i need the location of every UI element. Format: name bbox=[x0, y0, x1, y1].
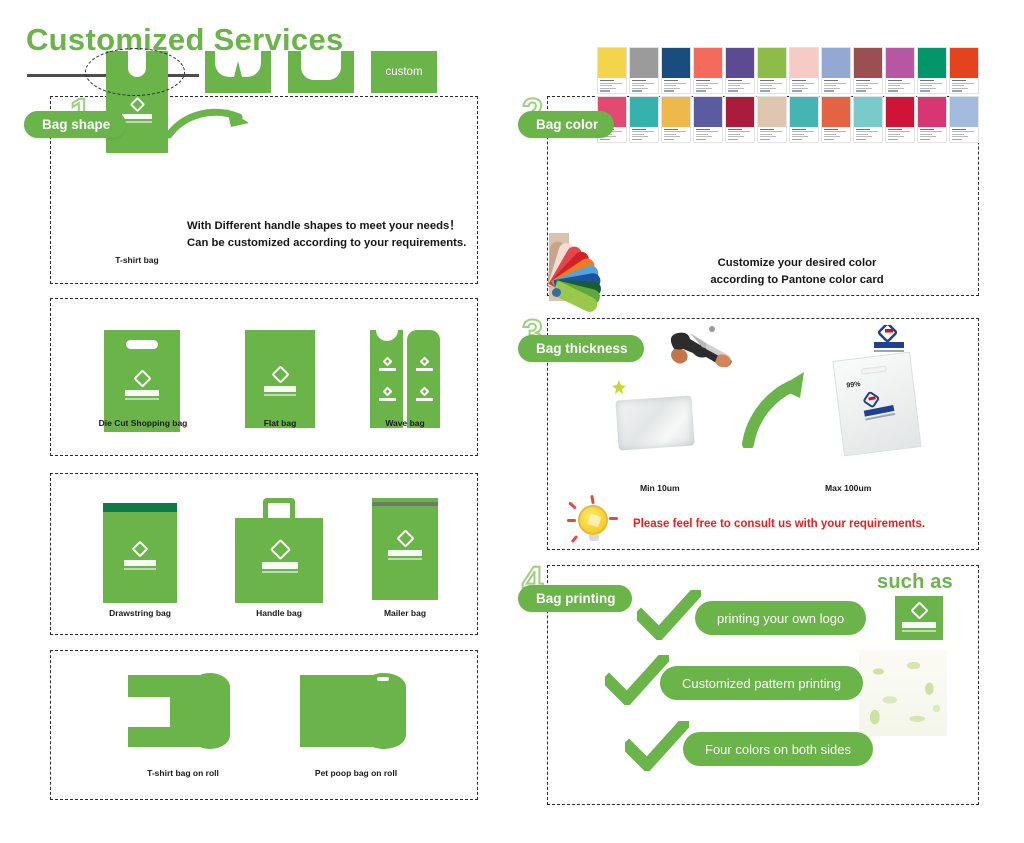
caption-line-2: according to Pantone color card bbox=[647, 272, 947, 289]
pantone-swatch bbox=[949, 47, 979, 94]
pantone-swatch-meta bbox=[822, 127, 850, 142]
pantone-swatch bbox=[629, 47, 659, 94]
pantone-swatch bbox=[661, 47, 691, 94]
bag-handle bbox=[235, 498, 323, 603]
printing-option-1[interactable]: printing your own logo bbox=[695, 601, 866, 635]
pantone-swatch-meta bbox=[854, 127, 882, 142]
bag-flat bbox=[245, 330, 315, 428]
such-as-label: such as bbox=[877, 571, 953, 594]
pantone-swatch-chip bbox=[822, 48, 850, 78]
pantone-swatch-meta bbox=[854, 78, 882, 93]
handle-bag-body bbox=[235, 518, 323, 603]
pantone-swatch-chip bbox=[854, 48, 882, 78]
brand-logo bbox=[415, 358, 433, 371]
pantone-swatch-chip bbox=[950, 48, 978, 78]
printing-option-label: Customized pattern printing bbox=[682, 676, 841, 691]
brand-logo bbox=[415, 388, 433, 401]
pantone-swatch-chip bbox=[662, 97, 690, 127]
pantone-swatch-chip bbox=[790, 48, 818, 78]
pantone-swatch-meta bbox=[886, 127, 914, 142]
pantone-swatch-meta bbox=[790, 127, 818, 142]
pantone-swatch-chip bbox=[758, 97, 786, 127]
pantone-swatch bbox=[757, 96, 787, 143]
pantone-swatch-meta bbox=[758, 127, 786, 142]
pantone-swatch bbox=[725, 96, 755, 143]
bag-label-die-cut: Die Cut Shopping bag bbox=[88, 418, 198, 428]
desc-line-1: With Different handle shapes to meet you… bbox=[187, 218, 466, 235]
thickness-min-label: Min 10um bbox=[640, 483, 680, 493]
handle-shape-custom[interactable]: custom bbox=[371, 51, 437, 93]
printing-option-label: printing your own logo bbox=[717, 611, 844, 626]
bag-wave-right bbox=[407, 330, 440, 428]
step-badge-bag-color[interactable]: Bag color bbox=[518, 111, 614, 138]
pantone-swatch-chip bbox=[918, 48, 946, 78]
handle-highlight-ellipse bbox=[85, 48, 185, 96]
pantone-swatch bbox=[757, 47, 787, 94]
bulb-ray bbox=[571, 535, 578, 543]
bag-petpoop-roll bbox=[300, 675, 412, 747]
step-badge-bag-thickness[interactable]: Bag thickness bbox=[518, 335, 644, 362]
bag-wave-left bbox=[370, 330, 403, 428]
step-badge-bag-shape[interactable]: Bag shape bbox=[24, 111, 126, 138]
pattern-sample-image bbox=[859, 650, 947, 736]
desc-line-2: Can be customized according to your requ… bbox=[187, 235, 466, 252]
bulb-base bbox=[589, 535, 599, 541]
left-column: 1 Bag shape T-shirt bag custom With Diff… bbox=[50, 0, 480, 843]
thick-bag-percent-mark: 99% bbox=[846, 381, 861, 390]
bag-drawstring bbox=[103, 503, 177, 603]
brand-logo bbox=[378, 388, 396, 401]
pantone-swatch bbox=[853, 47, 883, 94]
bag-label-flat: Flat bag bbox=[245, 418, 315, 428]
pantone-swatch-chip bbox=[662, 48, 690, 78]
brand-logo bbox=[378, 358, 396, 371]
brand-logo bbox=[123, 543, 157, 570]
thick-bag-photo: 99% bbox=[832, 352, 921, 457]
pantone-swatch-chip bbox=[598, 48, 626, 78]
pantone-fan-icon bbox=[549, 229, 635, 301]
bulb-ray bbox=[590, 495, 595, 504]
pantone-swatch-meta bbox=[918, 127, 946, 142]
handle-shape-u bbox=[288, 51, 354, 93]
bag-tshirt-roll bbox=[128, 675, 238, 747]
mailer-seal-strip bbox=[372, 502, 438, 506]
bag-label-tshirt-roll: T-shirt bag on roll bbox=[128, 768, 238, 778]
eco-leaf-icon bbox=[610, 378, 628, 399]
pantone-swatch-chip bbox=[886, 97, 914, 127]
pantone-swatch-chip bbox=[950, 97, 978, 127]
handle-bag-grip bbox=[263, 498, 295, 520]
bag-mailer bbox=[372, 498, 438, 600]
check-icon bbox=[625, 721, 689, 771]
pantone-swatch-chip bbox=[630, 97, 658, 127]
pantone-swatch bbox=[725, 47, 755, 94]
bag-color-caption: Customize your desired color according t… bbox=[647, 255, 947, 289]
pantone-swatch-chip bbox=[726, 97, 754, 127]
pantone-swatch bbox=[949, 96, 979, 143]
fan-pivot-pin bbox=[552, 288, 561, 297]
lightbulb-icon-group bbox=[565, 495, 621, 545]
pantone-swatch-chip bbox=[854, 97, 882, 127]
micrometer-photo bbox=[662, 325, 742, 369]
brand-logo bbox=[263, 368, 297, 396]
bag-label-handle: Handle bag bbox=[243, 608, 315, 618]
tshirt-roll-core bbox=[190, 673, 230, 749]
pantone-swatch bbox=[789, 47, 819, 94]
petpoop-roll-hole bbox=[377, 677, 389, 681]
pantone-swatch-chip bbox=[694, 97, 722, 127]
step-badge-bag-printing[interactable]: Bag printing bbox=[518, 585, 632, 612]
panel-bag-row-4 bbox=[50, 650, 478, 800]
bag-die-cut bbox=[104, 330, 180, 432]
pantone-swatch bbox=[917, 96, 947, 143]
pantone-swatch-meta bbox=[950, 78, 978, 93]
bulb-ray bbox=[609, 517, 618, 520]
bag-label-drawstring: Drawstring bag bbox=[98, 608, 182, 618]
bag-label-tshirt: T-shirt bag bbox=[100, 255, 174, 265]
pantone-swatch-grid bbox=[597, 47, 979, 143]
bag-label-mailer: Mailer bag bbox=[372, 608, 438, 618]
pantone-swatch bbox=[693, 96, 723, 143]
pantone-swatch bbox=[597, 47, 627, 94]
curved-arrow-icon bbox=[167, 105, 257, 146]
pantone-swatch-chip bbox=[918, 97, 946, 127]
pantone-swatch-meta bbox=[758, 78, 786, 93]
pantone-swatch-meta bbox=[726, 78, 754, 93]
brand-logo bbox=[124, 372, 160, 400]
check-icon bbox=[637, 590, 701, 640]
pantone-swatch-chip bbox=[790, 97, 818, 127]
pantone-swatch-chip bbox=[758, 48, 786, 78]
brand-logo bbox=[261, 542, 299, 573]
pantone-swatch bbox=[853, 96, 883, 143]
pantone-swatch bbox=[821, 47, 851, 94]
printing-option-3[interactable]: Four colors on both sides bbox=[683, 732, 873, 766]
pantone-swatch-meta bbox=[630, 127, 658, 142]
thickness-max-label: Max 100um bbox=[825, 483, 871, 493]
pantone-swatch bbox=[693, 47, 723, 94]
pantone-swatch-meta bbox=[822, 78, 850, 93]
pantone-swatch-chip bbox=[694, 48, 722, 78]
pantone-swatch-meta bbox=[886, 78, 914, 93]
pantone-swatch-chip bbox=[886, 48, 914, 78]
bulb-ray bbox=[567, 519, 576, 522]
pantone-swatch-meta bbox=[726, 127, 754, 142]
pantone-swatch-meta bbox=[694, 78, 722, 93]
pantone-swatch-chip bbox=[822, 97, 850, 127]
step-badge-label: Bag shape bbox=[42, 117, 110, 132]
custom-label: custom bbox=[385, 66, 422, 78]
printing-option-2[interactable]: Customized pattern printing bbox=[660, 666, 863, 700]
pantone-swatch-meta bbox=[662, 127, 690, 142]
bag-label-wave: Wave bag bbox=[370, 418, 440, 428]
pantone-swatch-chip bbox=[726, 48, 754, 78]
right-column: 2 Bag color Customize your desired color… bbox=[547, 0, 979, 843]
pantone-swatch bbox=[821, 96, 851, 143]
pantone-swatch bbox=[917, 47, 947, 94]
brand-logo-tile bbox=[895, 596, 943, 640]
bag-label-petpoop-roll: Pet poop bag on roll bbox=[300, 768, 412, 778]
handle-notch-u bbox=[301, 50, 341, 80]
pantone-swatch-chip bbox=[630, 48, 658, 78]
bag-shape-description: With Different handle shapes to meet you… bbox=[187, 218, 466, 252]
brand-logo bbox=[121, 99, 153, 123]
wave-notch-left bbox=[376, 327, 398, 341]
thick-bag-print bbox=[854, 388, 904, 427]
pantone-swatch-meta bbox=[950, 127, 978, 142]
pantone-swatch-meta bbox=[694, 127, 722, 142]
caption-line-1: Customize your desired color bbox=[647, 255, 947, 272]
thickness-arrow-icon bbox=[742, 368, 812, 448]
pantone-swatch bbox=[629, 96, 659, 143]
step-badge-label: Bag thickness bbox=[536, 341, 628, 356]
die-cut-handle-hole bbox=[126, 340, 158, 349]
printing-option-label: Four colors on both sides bbox=[705, 742, 851, 757]
pantone-swatch bbox=[885, 96, 915, 143]
lightbulb-icon bbox=[578, 505, 608, 535]
pantone-swatch bbox=[789, 96, 819, 143]
pantone-swatch-meta bbox=[662, 78, 690, 93]
thin-film-photo bbox=[615, 395, 694, 450]
brand-logo bbox=[387, 532, 423, 560]
petpoop-roll-core bbox=[362, 673, 406, 749]
handle-shape-w bbox=[205, 51, 271, 93]
thick-bag-handle-hole bbox=[861, 366, 888, 375]
pantone-swatch-meta bbox=[630, 78, 658, 93]
step-badge-label: Bag printing bbox=[536, 591, 616, 606]
brand-logo bbox=[901, 604, 937, 632]
pantone-swatch bbox=[885, 47, 915, 94]
consult-note: Please feel free to consult us with your… bbox=[633, 518, 925, 530]
bulb-ray bbox=[568, 501, 577, 509]
drawstring-top-band bbox=[103, 503, 177, 512]
pantone-swatch bbox=[661, 96, 691, 143]
pantone-swatch-meta bbox=[598, 78, 626, 93]
thick-bag-brand-logo bbox=[869, 325, 909, 358]
step-badge-label: Bag color bbox=[536, 117, 598, 132]
pantone-swatch-meta bbox=[918, 78, 946, 93]
pantone-swatch-meta bbox=[790, 78, 818, 93]
